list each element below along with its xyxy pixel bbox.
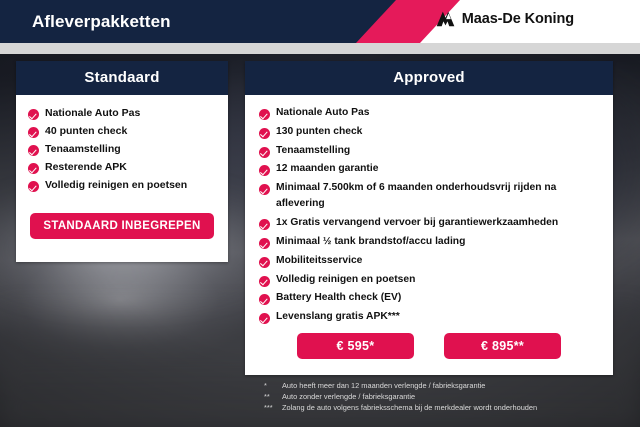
card-standaard: Standaard Nationale Auto Pas 40 punten c… (16, 61, 228, 262)
feature-label: Minimaal ½ tank brandstof/accu lading (276, 234, 465, 250)
check-circle-icon (259, 109, 270, 120)
list-item: 1x Gratis vervangend vervoer bij garanti… (245, 215, 613, 231)
feature-label: Levenslang gratis APK*** (276, 309, 400, 325)
footnote-text: Zolang de auto volgens fabrieksschema bi… (282, 402, 537, 413)
feature-label: Nationale Auto Pas (45, 105, 140, 121)
price-button-595[interactable]: € 595* (297, 333, 414, 359)
feature-label: Resterende APK (45, 159, 127, 175)
list-item: Resterende APK (16, 159, 228, 175)
check-circle-icon (259, 128, 270, 139)
list-item: Battery Health check (EV) (245, 290, 613, 306)
list-item: 12 maanden garantie (245, 161, 613, 177)
list-item: 130 punten check (245, 124, 613, 140)
feature-label: Nationale Auto Pas (276, 105, 369, 121)
check-circle-icon (259, 257, 270, 268)
page-header: Afleverpakketten Maas-De Koning (0, 0, 640, 43)
list-item: Minimaal ½ tank brandstof/accu lading (245, 234, 613, 250)
check-circle-icon (259, 313, 270, 324)
check-circle-icon (28, 163, 39, 174)
card-approved: Approved Nationale Auto Pas 130 punten c… (245, 61, 613, 375)
footnote-1: * Auto heeft meer dan 12 maanden verleng… (264, 380, 624, 391)
feature-label: 130 punten check (276, 124, 362, 140)
list-item: Minimaal 7.500km of 6 maanden onderhouds… (245, 180, 613, 212)
list-item: Tenaamstelling (245, 143, 613, 159)
feature-label: Battery Health check (EV) (276, 290, 401, 306)
footnote-marker: ** (264, 391, 282, 402)
approved-price-row: € 595* € 895** (245, 333, 613, 359)
footnote-text: Auto zonder verlengde / fabrieksgarantie (282, 391, 415, 402)
feature-label: 1x Gratis vervangend vervoer bij garanti… (276, 215, 558, 231)
check-circle-icon (259, 294, 270, 305)
footnote-text: Auto heeft meer dan 12 maanden verlengde… (282, 380, 485, 391)
brand-lockup: Maas-De Koning (435, 11, 574, 27)
footnotes: * Auto heeft meer dan 12 maanden verleng… (264, 380, 624, 413)
footnote-2: ** Auto zonder verlengde / fabrieksgaran… (264, 391, 624, 402)
footnote-marker: * (264, 380, 282, 391)
standaard-inbegrepen-button[interactable]: STANDAARD INBEGREPEN (30, 213, 214, 239)
check-circle-icon (259, 219, 270, 230)
check-circle-icon (259, 147, 270, 158)
list-item: 40 punten check (16, 123, 228, 139)
check-circle-icon (259, 184, 270, 195)
feature-label: 40 punten check (45, 123, 127, 139)
feature-label: Volledig reinigen en poetsen (45, 177, 187, 193)
check-circle-icon (28, 181, 39, 192)
page-title: Afleverpakketten (32, 10, 171, 33)
card-approved-title: Approved (245, 61, 613, 95)
feature-label: Volledig reinigen en poetsen (276, 272, 415, 288)
footnote-3: *** Zolang de auto volgens fabrieksschem… (264, 402, 624, 413)
list-item: Volledig reinigen en poetsen (245, 272, 613, 288)
approved-feature-list: Nationale Auto Pas 130 punten check Tena… (245, 105, 613, 325)
check-circle-icon (28, 127, 39, 138)
check-circle-icon (28, 145, 39, 156)
check-circle-icon (259, 276, 270, 287)
check-circle-icon (259, 165, 270, 176)
footnote-marker: *** (264, 402, 282, 413)
list-item: Nationale Auto Pas (245, 105, 613, 121)
check-circle-icon (259, 238, 270, 249)
card-standaard-title: Standaard (16, 61, 228, 95)
list-item: Mobiliteitsservice (245, 253, 613, 269)
list-item: Levenslang gratis APK*** (245, 309, 613, 325)
feature-label: 12 maanden garantie (276, 161, 378, 177)
feature-label: Tenaamstelling (276, 143, 350, 159)
feature-label: Tenaamstelling (45, 141, 121, 157)
list-item: Volledig reinigen en poetsen (16, 177, 228, 193)
list-item: Nationale Auto Pas (16, 105, 228, 121)
feature-label: Minimaal 7.500km of 6 maanden onderhouds… (276, 180, 605, 212)
feature-label: Mobiliteitsservice (276, 253, 362, 269)
card-standaard-body: Nationale Auto Pas 40 punten check Tenaa… (16, 95, 228, 193)
standaard-feature-list: Nationale Auto Pas 40 punten check Tenaa… (16, 105, 228, 193)
price-button-895[interactable]: € 895** (444, 333, 561, 359)
list-item: Tenaamstelling (16, 141, 228, 157)
maas-m-logo-icon (435, 11, 455, 27)
poster-root: Afleverpakketten Maas-De Koning Standaar… (0, 0, 640, 427)
check-circle-icon (28, 109, 39, 120)
brand-name: Maas-De Koning (462, 11, 574, 27)
header-underbar (0, 43, 640, 54)
card-approved-body: Nationale Auto Pas 130 punten check Tena… (245, 95, 613, 325)
